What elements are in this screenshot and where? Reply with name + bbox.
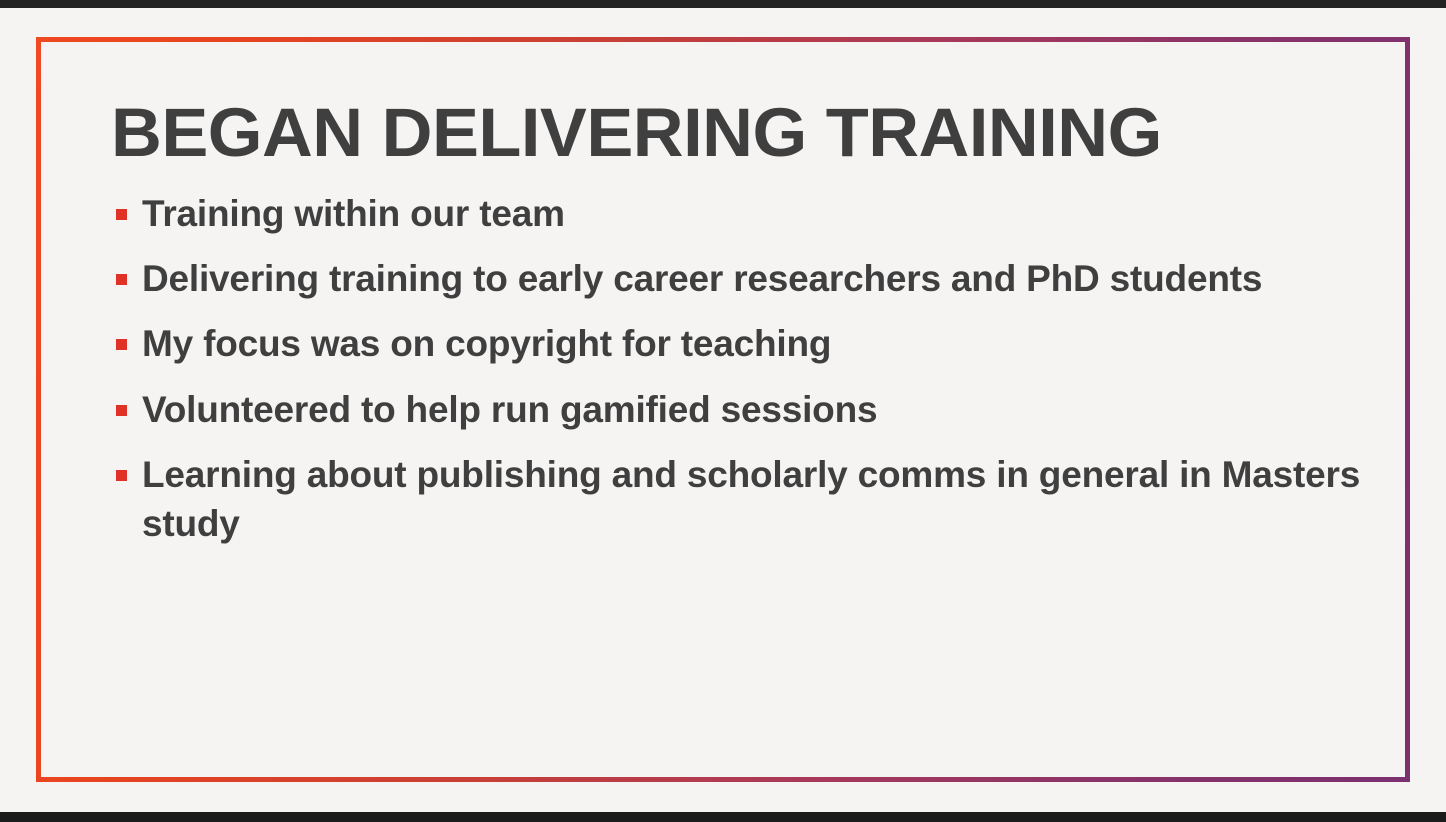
bullet-list: Training within our team Delivering trai… xyxy=(111,189,1375,548)
video-player-viewport: BEGAN DELIVERING TRAINING Training withi… xyxy=(0,0,1446,822)
square-bullet-icon xyxy=(116,274,127,285)
square-bullet-icon xyxy=(116,339,127,350)
square-bullet-icon xyxy=(116,209,127,220)
bullet-item-text: My focus was on copyright for teaching xyxy=(142,323,831,364)
slide-content: BEGAN DELIVERING TRAINING Training withi… xyxy=(111,98,1375,548)
slide-inner-panel: BEGAN DELIVERING TRAINING Training withi… xyxy=(41,42,1405,777)
square-bullet-icon xyxy=(116,470,127,481)
bullet-item-3: My focus was on copyright for teaching xyxy=(111,319,1372,368)
bullet-item-1: Training within our team xyxy=(111,189,1372,238)
bullet-item-text: Delivering training to early career rese… xyxy=(142,258,1262,299)
bullet-item-text: Learning about publishing and scholarly … xyxy=(142,454,1360,544)
bullet-item-text: Volunteered to help run gamified session… xyxy=(142,389,877,430)
letterbox-bar-bottom xyxy=(0,812,1446,822)
square-bullet-icon xyxy=(116,405,127,416)
bullet-item-2: Delivering training to early career rese… xyxy=(111,254,1372,303)
slide-gradient-border: BEGAN DELIVERING TRAINING Training withi… xyxy=(36,37,1410,782)
bullet-item-text: Training within our team xyxy=(142,193,565,234)
slide-title: BEGAN DELIVERING TRAINING xyxy=(111,98,1400,167)
bullet-item-4: Volunteered to help run gamified session… xyxy=(111,385,1372,434)
letterbox-bar-top xyxy=(0,0,1446,8)
presentation-slide: BEGAN DELIVERING TRAINING Training withi… xyxy=(0,8,1446,812)
bullet-item-5: Learning about publishing and scholarly … xyxy=(111,450,1372,548)
